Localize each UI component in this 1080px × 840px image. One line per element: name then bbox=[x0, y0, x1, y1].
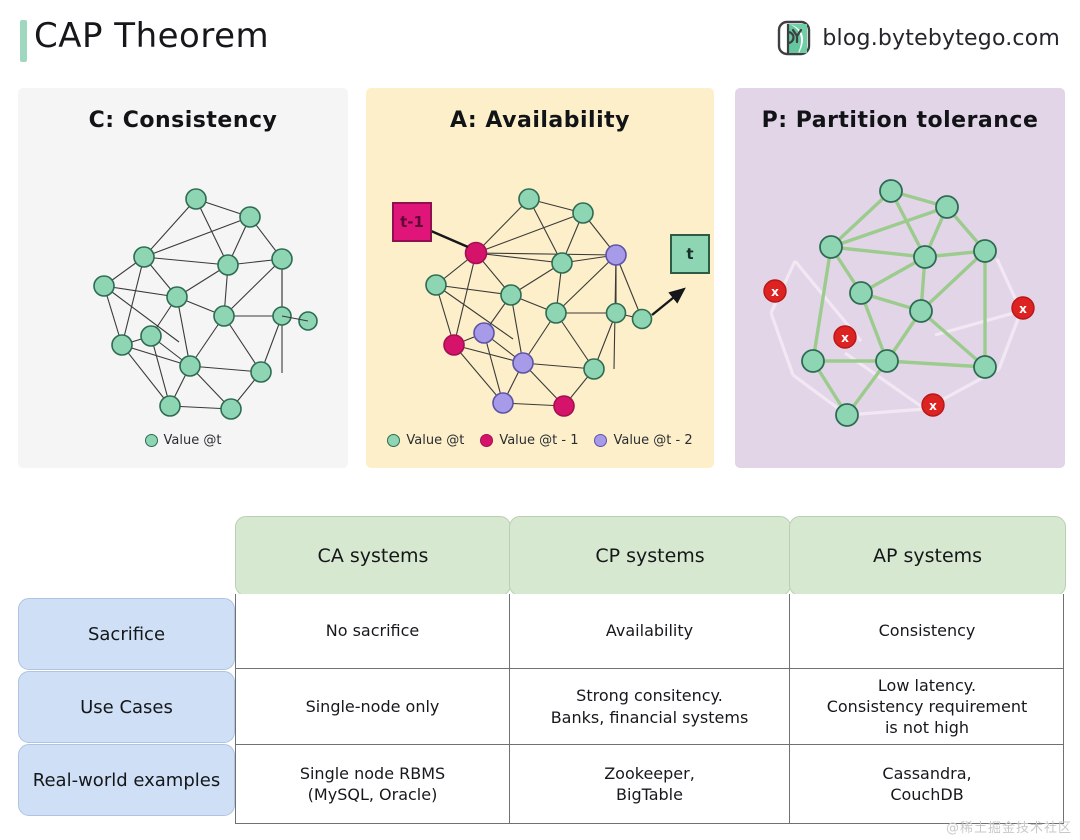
matrix-cell: Low latency.Consistency requirementis no… bbox=[790, 669, 1064, 745]
matrix-cell: Availability bbox=[510, 594, 790, 669]
legend-item: Value @t bbox=[145, 433, 222, 448]
failure-x-icon: x bbox=[764, 280, 786, 302]
legend-label: Value @t - 1 bbox=[499, 433, 578, 448]
legend-item: Value @t - 1 bbox=[480, 433, 578, 448]
legend-color-dot bbox=[387, 434, 400, 447]
matrix-cell: Consistency bbox=[790, 594, 1064, 669]
failure-x-icon: x bbox=[1012, 297, 1034, 319]
availability-network-graph bbox=[366, 138, 714, 468]
matrix-row-label-use-cases: Use Cases bbox=[18, 671, 235, 743]
badge-t-minus-1: t-1 bbox=[392, 202, 432, 242]
badge-t-label: t bbox=[686, 245, 693, 263]
partition-tolerance-network-graph: x x x x bbox=[735, 138, 1065, 468]
matrix-cell: Zookeeper,BigTable bbox=[510, 745, 790, 823]
failure-x-icon: x bbox=[922, 394, 944, 416]
legend-label: Value @t bbox=[164, 433, 222, 448]
matrix-column-header-cp: CP systems bbox=[509, 516, 791, 596]
cap-comparison-matrix: CA systems CP systems AP systems Sacrifi… bbox=[18, 516, 1064, 824]
consistency-network-graph bbox=[18, 138, 348, 468]
legend-color-dot bbox=[480, 434, 493, 447]
matrix-column-header-ap: AP systems bbox=[789, 516, 1066, 596]
matrix-cell: No sacrifice bbox=[236, 594, 510, 669]
panel-availability-title: A: Availability bbox=[366, 108, 714, 133]
legend-item: Value @t bbox=[387, 433, 464, 448]
legend-label: Value @t - 2 bbox=[613, 433, 692, 448]
bytebytego-logo-icon bbox=[777, 20, 811, 56]
badge-t-minus-1-label: t-1 bbox=[400, 213, 424, 231]
matrix-cell: Single node RBMS(MySQL, Oracle) bbox=[236, 745, 510, 823]
failure-x-icon: x bbox=[834, 326, 856, 348]
page-header: CAP Theorem blog.bytebytego.com bbox=[0, 0, 1080, 84]
matrix-cell: Strong consitency.Banks, financial syste… bbox=[510, 669, 790, 745]
failed-node-markers: x x x x bbox=[764, 280, 1034, 416]
svg-text:x: x bbox=[1019, 302, 1027, 316]
legend-item: Value @t - 2 bbox=[594, 433, 692, 448]
consistency-legend: Value @t bbox=[18, 433, 348, 448]
panel-availability: A: Availability bbox=[366, 88, 714, 468]
matrix-grid: No sacrifice Availability Consistency Si… bbox=[235, 594, 1064, 824]
panel-partition-tolerance-title: P: Partition tolerance bbox=[735, 108, 1065, 133]
watermark-label: @稀土掘金技术社区 bbox=[946, 817, 1072, 836]
matrix-row-label-sacrifice: Sacrifice bbox=[18, 598, 235, 670]
matrix-column-header-ca: CA systems bbox=[235, 516, 511, 596]
panel-partition-tolerance: P: Partition tolerance bbox=[735, 88, 1065, 468]
svg-text:x: x bbox=[771, 285, 779, 299]
matrix-cell: Single-node only bbox=[236, 669, 510, 745]
badge-t: t bbox=[670, 234, 710, 274]
legend-color-dot bbox=[594, 434, 607, 447]
page-title: CAP Theorem bbox=[34, 16, 269, 56]
matrix-cell: Cassandra,CouchDB bbox=[790, 745, 1064, 823]
panel-consistency-title: C: Consistency bbox=[18, 108, 348, 133]
legend-label: Value @t bbox=[406, 433, 464, 448]
legend-color-dot bbox=[145, 434, 158, 447]
title-accent-bar bbox=[20, 20, 27, 62]
brand-block: blog.bytebytego.com bbox=[777, 20, 1060, 56]
matrix-row-label-real-world-examples: Real-world examples bbox=[18, 744, 235, 816]
availability-legend: Value @t Value @t - 1 Value @t - 2 bbox=[366, 433, 714, 448]
svg-text:x: x bbox=[929, 399, 937, 413]
brand-url-label: blog.bytebytego.com bbox=[822, 26, 1060, 51]
panel-consistency: C: Consistency bbox=[18, 88, 348, 468]
svg-text:x: x bbox=[841, 331, 849, 345]
